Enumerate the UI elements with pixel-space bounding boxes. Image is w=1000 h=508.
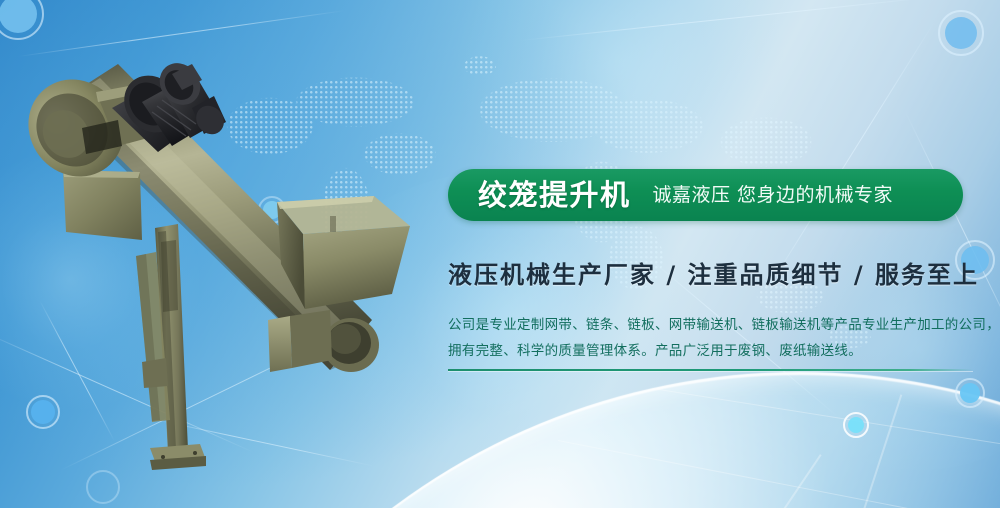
product-title: 绞笼提升机 <box>478 181 631 210</box>
hairline-6 <box>904 110 1000 344</box>
hairline-5 <box>760 20 936 300</box>
product-image-screw-conveyor <box>0 20 430 490</box>
ring-top-right <box>938 10 984 56</box>
description-line-2: 拥有完整、科学的质量管理体系。产品广泛用于废钢、废纸输送线。 <box>448 338 978 364</box>
hairline-4 <box>520 0 948 41</box>
product-title-pill: 绞笼提升机 诚嘉液压 您身边的机械专家 <box>448 169 963 221</box>
promo-banner: 绞笼提升机 诚嘉液压 您身边的机械专家 液压机械生产厂家 / 注重品质细节 / … <box>0 0 1000 508</box>
description-block: 公司是专业定制网带、链条、链板、网带输送机、链板输送机等产品专业生产加工的公司，… <box>448 312 978 364</box>
ring-bottom-right <box>955 378 985 408</box>
headline-text: 液压机械生产厂家 / 注重品质细节 / 服务至上 <box>448 262 979 288</box>
description-line-1: 公司是专业定制网带、链条、链板、网带输送机、链板输送机等产品专业生产加工的公司， <box>448 312 978 338</box>
product-slogan: 诚嘉液压 您身边的机械专家 <box>653 186 894 205</box>
divider-line <box>448 369 973 371</box>
hopper <box>277 196 410 309</box>
ring-center-small <box>843 412 869 438</box>
glow-spot-upper <box>430 0 810 190</box>
support-leg <box>136 224 206 470</box>
